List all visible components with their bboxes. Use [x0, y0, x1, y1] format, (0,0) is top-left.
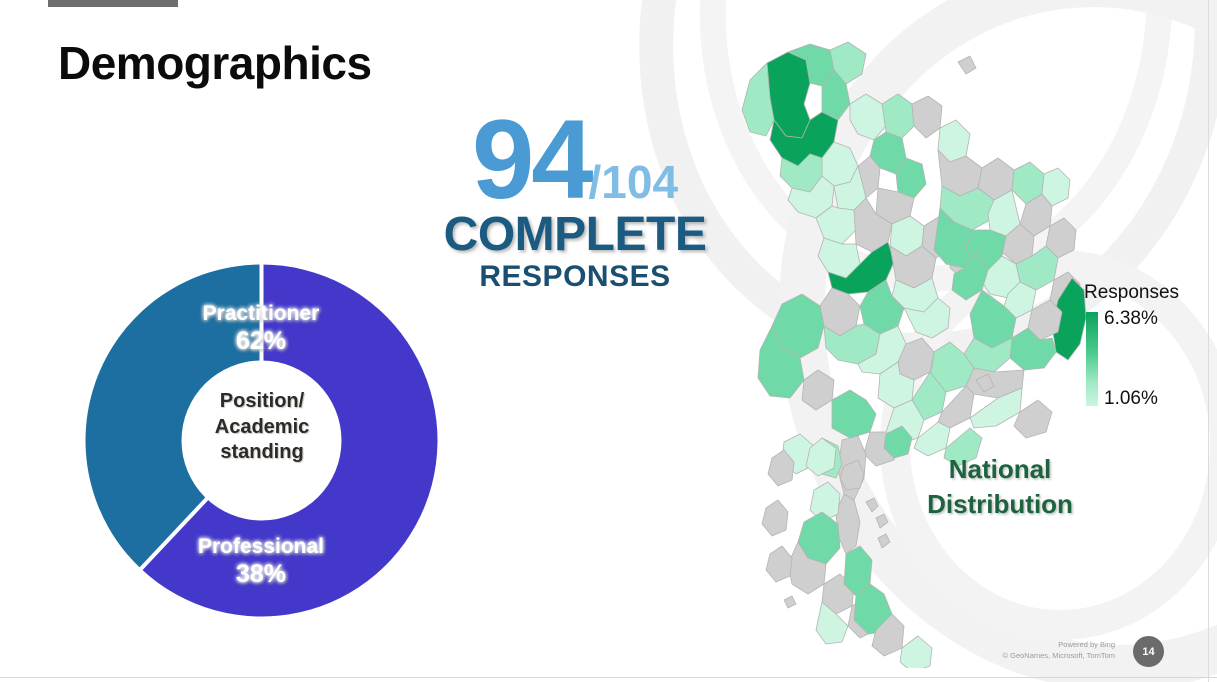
page-number-badge: 14	[1133, 636, 1164, 667]
donut-chart: Practitioner 62% Professional 38% Positi…	[83, 262, 440, 619]
kpi-block: 94/104 COMPLETE RESPONSES	[440, 104, 710, 293]
thailand-choropleth-map	[726, 8, 1086, 668]
thailand-map-svg	[726, 8, 1086, 668]
kpi-responses-label: RESPONSES	[440, 260, 710, 293]
accent-bar	[48, 0, 178, 7]
province-region[interactable]	[784, 596, 796, 608]
province-region[interactable]	[876, 514, 888, 528]
map-attribution-line2: © GeoNames, Microsoft, TomTom	[955, 651, 1115, 662]
slide-bottom-edge	[0, 677, 1217, 678]
map-legend: Responses 6.38% 1.06%	[1084, 282, 1214, 410]
province-region[interactable]	[882, 94, 914, 138]
province-region[interactable]	[912, 96, 942, 138]
province-region[interactable]	[878, 534, 890, 548]
province-region[interactable]	[832, 390, 876, 438]
legend-min-value: 1.06%	[1104, 388, 1158, 410]
kpi-number: 94	[472, 97, 591, 222]
province-region[interactable]	[958, 56, 976, 74]
province-region[interactable]	[802, 370, 834, 410]
map-attribution: Powered by Bing © GeoNames, Microsoft, T…	[955, 640, 1115, 662]
province-region[interactable]	[900, 636, 932, 668]
slide-canvas: Demographics 94/104 COMPLETE RESPONSES P…	[0, 0, 1217, 682]
province-region[interactable]	[850, 94, 886, 140]
donut-center-label: Position/ Academic standing	[181, 389, 343, 466]
province-region[interactable]	[766, 546, 792, 582]
kpi-complete-label: COMPLETE	[440, 212, 710, 258]
legend-body: 6.38% 1.06%	[1084, 308, 1214, 410]
legend-max-value: 6.38%	[1104, 308, 1158, 330]
page-title: Demographics	[58, 36, 372, 90]
map-caption: National Distribution	[900, 452, 1100, 522]
kpi-denominator: /104	[589, 156, 679, 208]
legend-title: Responses	[1084, 282, 1214, 304]
map-attribution-line1: Powered by Bing	[955, 640, 1115, 651]
province-region[interactable]	[866, 498, 878, 512]
slide-right-edge	[1208, 0, 1209, 682]
legend-gradient-bar	[1086, 312, 1098, 406]
kpi-fraction: 94/104	[440, 104, 710, 216]
province-region[interactable]	[762, 500, 788, 536]
